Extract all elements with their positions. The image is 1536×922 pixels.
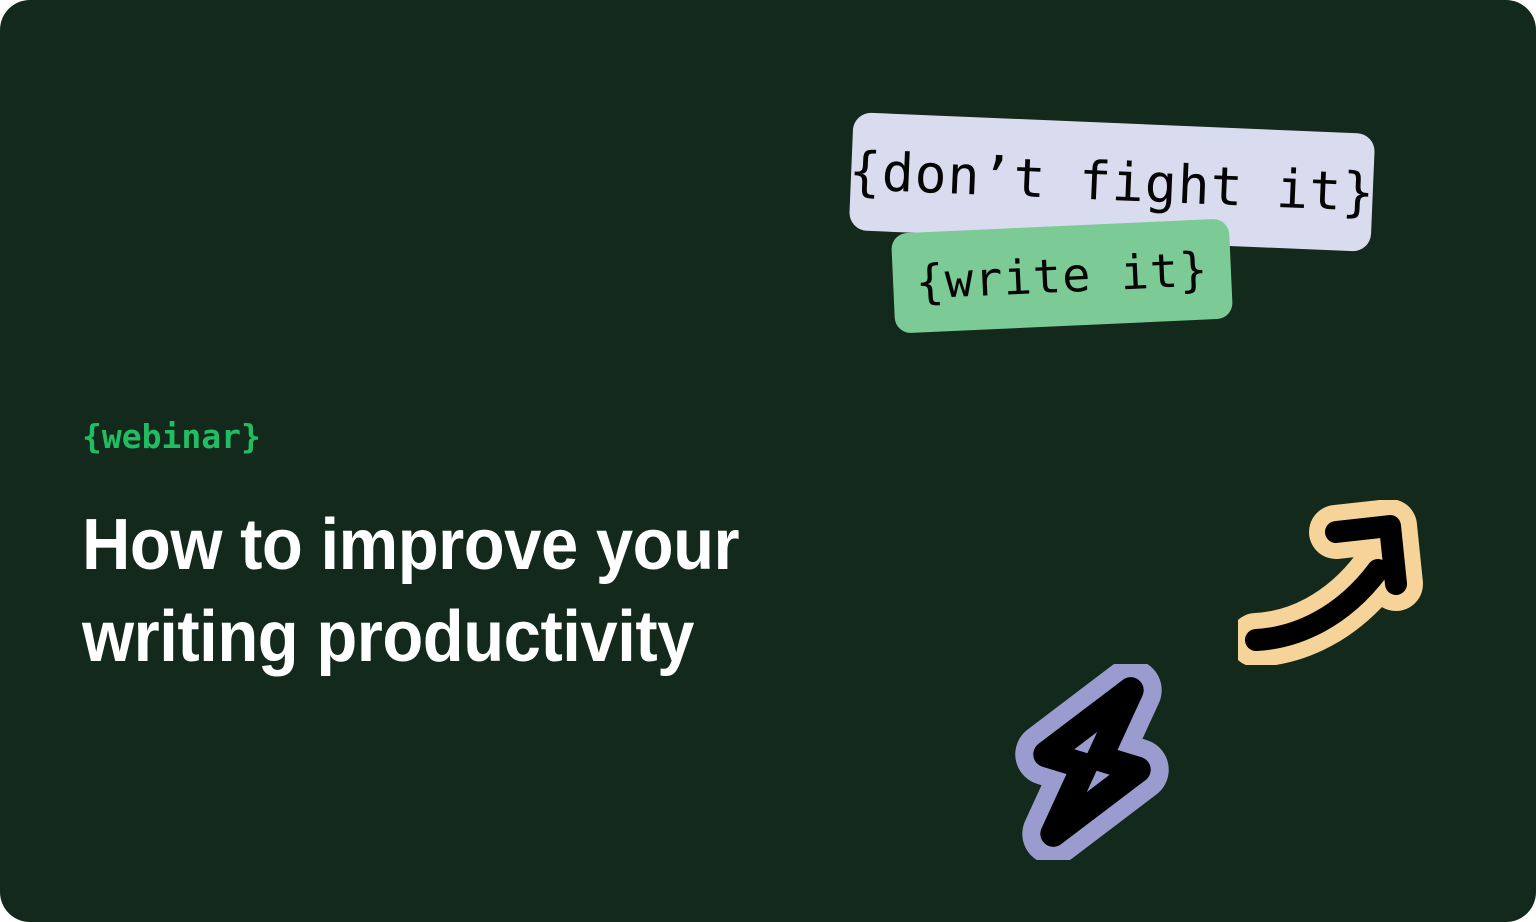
- sticker-write-it-label: {write it}: [914, 242, 1209, 310]
- page-title: How to improve your writing productivity: [82, 499, 789, 683]
- lightning-bolt-icon: [1012, 664, 1172, 860]
- sticker-dont-fight-it-label: {don’t fight it}: [848, 141, 1377, 224]
- eyebrow-label: {webinar}: [82, 420, 842, 453]
- page-title-line-2: writing productivity: [82, 591, 789, 683]
- curved-arrow-up-right-icon: [1238, 500, 1428, 665]
- page-title-line-1: How to improve your: [82, 499, 789, 591]
- webinar-promo-card: {don’t fight it} {write it} {webinar} Ho…: [0, 0, 1536, 922]
- headline-block: {webinar} How to improve your writing pr…: [82, 420, 842, 683]
- sticker-write-it: {write it}: [891, 218, 1233, 333]
